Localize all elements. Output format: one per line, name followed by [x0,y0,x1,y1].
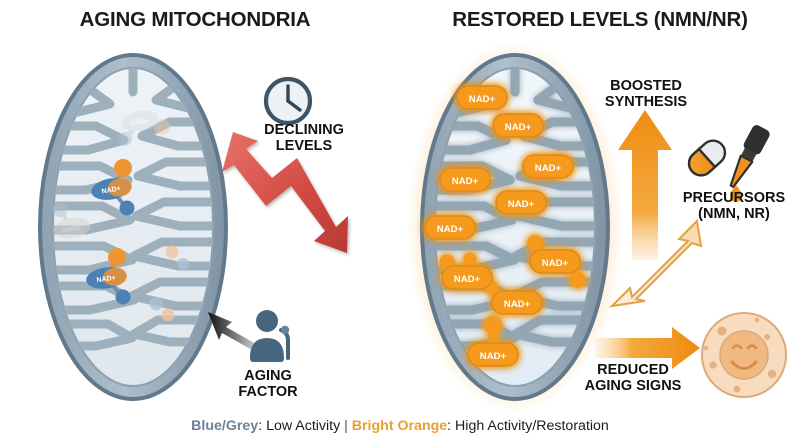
pointer-arrow-icon [208,312,258,351]
nad-label: NAD+ [505,122,532,133]
restored-mitochondrion: NAD+ NAD+ NAD+ NAD+ NAD+ [407,41,623,413]
nad-label: NAD+ [454,274,481,285]
nad-label: NAD+ [452,176,479,187]
up-arrow-icon [618,110,672,260]
aging-mitochondrion: NAD+ NAD+ NAD+ [40,55,226,399]
happy-cell-icon [702,313,786,397]
callout-reduced-aging-signs: REDUCED AGING SIGNS [570,362,696,395]
legend: Blue/Grey: Low Activity | Bright Orange:… [0,418,800,434]
infographic-canvas: AGING MITOCHONDRIA RESTORED LEVELS (NMN/… [0,0,800,446]
nad-label: NAD+ [508,199,535,210]
callout-aging-factor: AGING FACTOR [222,368,314,401]
nad-label: NAD+ [480,351,507,362]
callout-boosted-synthesis: BOOSTED SYNTHESIS [596,78,696,111]
nad-pill: NAD+ [440,168,490,191]
callout-precursors: PRECURSORS (NMN, NR) [672,190,796,223]
nad-pill: NAD+ [492,291,542,314]
aging-person-icon [250,310,289,362]
legend-low-label: Blue/Grey [191,418,258,434]
nad-pill: NAD+ [496,191,546,214]
nad-label: NAD+ [437,224,464,235]
clock-icon [266,79,310,123]
legend-low-text: : Low Activity [258,418,344,434]
legend-high-label: Bright Orange [348,418,447,434]
nad-label: NAD+ [469,94,496,105]
nad-pill: NAD+ [425,216,475,239]
nad-label: NAD+ [542,258,569,269]
nad-pill: NAD+ [523,155,573,178]
legend-high-text: : High Activity/Restoration [447,418,609,434]
callout-declining-levels: DECLINING LEVELS [258,122,350,155]
nad-pill: NAD+ [457,86,507,109]
nad-label: NAD+ [535,163,562,174]
nad-label: NAD+ [504,299,531,310]
capsule-icon [684,136,730,181]
nad-pill: NAD+ [493,114,543,137]
